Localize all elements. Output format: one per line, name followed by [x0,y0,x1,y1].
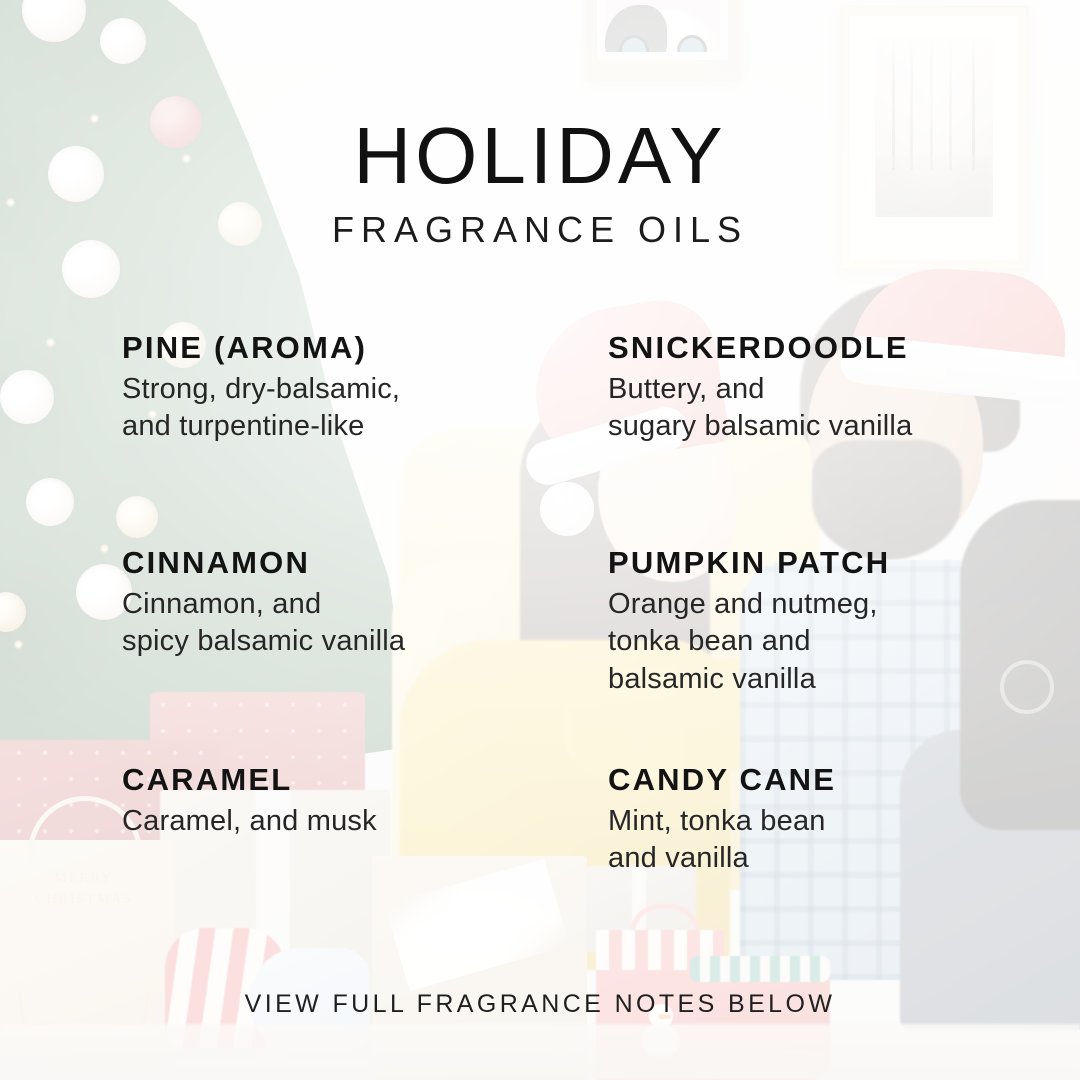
fragrance-notes: Mint, tonka bean and vanilla [608,803,1078,878]
poster-content: HOLIDAY FRAGRANCE OILS PINE (AROMA) Stro… [0,0,1080,1080]
fragrance-name: CINNAMON [122,545,592,582]
fragrance-notes: Strong, dry-balsamic, and turpentine-lik… [122,371,592,446]
fragrance-item-cinnamon: CINNAMON Cinnamon, and spicy balsamic va… [122,545,592,661]
fragrance-name: SNICKERDOODLE [608,330,1078,367]
fragrance-name: CARAMEL [122,762,592,799]
fragrance-notes: Buttery, and sugary balsamic vanilla [608,371,1078,446]
fragrance-item-snickerdoodle: SNICKERDOODLE Buttery, and sugary balsam… [608,330,1078,446]
fragrance-notes: Orange and nutmeg, tonka bean and balsam… [608,586,1078,699]
fragrance-item-caramel: CARAMEL Caramel, and musk [122,762,592,840]
fragrance-item-pine: PINE (AROMA) Strong, dry-balsamic, and t… [122,330,592,446]
fragrance-name: PUMPKIN PATCH [608,545,1078,582]
fragrance-item-candy-cane: CANDY CANE Mint, tonka bean and vanilla [608,762,1078,878]
footer-cta[interactable]: VIEW FULL FRAGRANCE NOTES BELOW [0,992,1080,1017]
fragrance-item-pumpkin-patch: PUMPKIN PATCH Orange and nutmeg, tonka b… [608,545,1078,699]
fragrance-notes: Caramel, and musk [122,803,592,841]
fragrance-name: PINE (AROMA) [122,330,592,367]
fragrance-notes: Cinnamon, and spicy balsamic vanilla [122,586,592,661]
holiday-fragrance-poster: MERRY CHRISTMAS HOLIDAY FRAGRANCE OILS [0,0,1080,1080]
fragrance-grid: PINE (AROMA) Strong, dry-balsamic, and t… [0,0,1080,1080]
fragrance-name: CANDY CANE [608,762,1078,799]
